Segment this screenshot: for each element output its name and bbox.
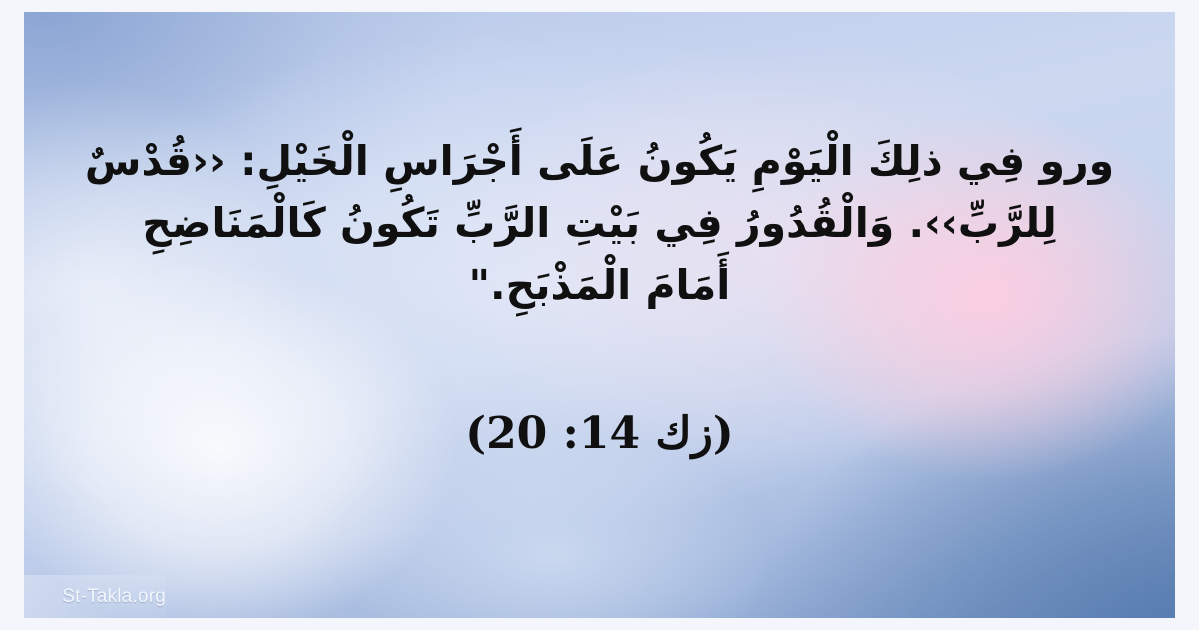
verse-line-2: لِلرَّبِّ››. وَالْقُدُورُ فِي بَيْتِ الر… [24, 192, 1175, 254]
watermark-band: St-Takla.org [24, 575, 166, 618]
watermark-text: St-Takla.org [62, 586, 166, 608]
verse-line-1: ‏ورو فِي ذلِكَ الْيَوْمِ يَكُونُ عَلَى أ… [24, 130, 1175, 192]
verse-text-block: ‏ورو فِي ذلِكَ الْيَوْمِ يَكُونُ عَلَى أ… [24, 130, 1175, 316]
verse-reference: (زك 14: 20) [24, 404, 1175, 464]
verse-image-canvas: ‏ورو فِي ذلِكَ الْيَوْمِ يَكُونُ عَلَى أ… [0, 0, 1199, 630]
background-photo: ‏ورو فِي ذلِكَ الْيَوْمِ يَكُونُ عَلَى أ… [24, 12, 1175, 618]
verse-line-3: أَمَامَ الْمَذْبَحِ." [24, 254, 1175, 316]
